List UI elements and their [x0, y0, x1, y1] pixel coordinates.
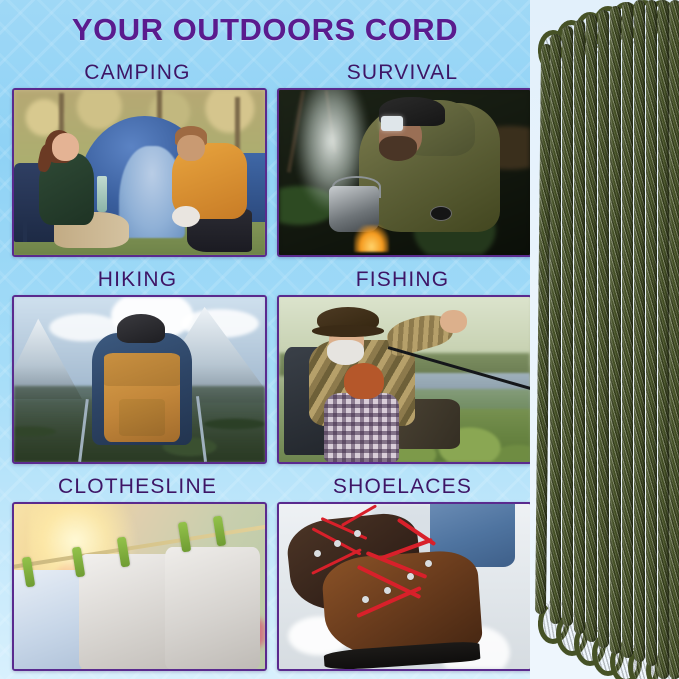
- use-case-grid: CAMPING: [0, 58, 530, 679]
- card-photo-fishing: [277, 295, 530, 464]
- campfire-flame: [354, 225, 389, 251]
- hiking-scene: [14, 297, 265, 462]
- card-label: SHOELACES: [277, 472, 528, 502]
- use-case-card-camping[interactable]: CAMPING: [12, 58, 263, 257]
- boy-red-hair: [344, 363, 384, 399]
- hanging-shirt: [12, 570, 84, 669]
- card-label: HIKING: [12, 265, 263, 295]
- product-panel: [530, 0, 679, 679]
- cord-strand: [658, 0, 669, 679]
- grid-row: CAMPING: [0, 58, 530, 265]
- boot-eyelet: [384, 587, 391, 594]
- use-case-card-clothesline[interactable]: CLOTHESLINE: [12, 472, 263, 671]
- page-title: YOUR OUTDOORS CORD: [0, 12, 530, 48]
- cord-strand: [562, 26, 573, 626]
- backpack-pocket: [119, 399, 164, 435]
- cord-strand: [574, 20, 585, 634]
- clothesline-scene: [14, 504, 265, 669]
- card-photo-clothesline: [12, 502, 267, 671]
- beard: [379, 136, 417, 161]
- cord-strand: [598, 10, 609, 648]
- cord-strand: [669, 0, 679, 679]
- backpack-flap: [104, 353, 179, 386]
- card-label: SURVIVAL: [277, 58, 528, 88]
- card-photo-hiking: [12, 295, 267, 464]
- card-label: FISHING: [277, 265, 528, 295]
- paracord-bundle: [530, 0, 679, 679]
- boy-plaid-shirt: [324, 393, 399, 462]
- product-infographic: YOUR OUTDOORS CORD CAMPING: [0, 0, 679, 679]
- card-photo-survival: [277, 88, 530, 257]
- cord-strand: [646, 0, 657, 666]
- use-case-card-shoelaces[interactable]: SHOELACES: [277, 472, 528, 671]
- use-case-card-survival[interactable]: SURVIVAL: [277, 58, 528, 257]
- card-photo-shoelaces: [277, 502, 530, 671]
- infographic-panel: YOUR OUTDOORS CORD CAMPING: [0, 0, 530, 679]
- hiker-beanie: [117, 314, 165, 344]
- hanging-shirt: [165, 547, 260, 669]
- wristwatch: [430, 206, 452, 221]
- grid-row: HIKING: [0, 265, 530, 472]
- drink-bottle: [97, 176, 107, 212]
- cord-strand: [634, 0, 645, 662]
- card-label: CAMPING: [12, 58, 263, 88]
- white-beard: [327, 340, 365, 365]
- headlamp-icon: [381, 116, 404, 131]
- camping-scene: [14, 90, 265, 255]
- man-face: [177, 135, 205, 161]
- card-label: CLOTHESLINE: [12, 472, 263, 502]
- use-case-card-hiking[interactable]: HIKING: [12, 265, 263, 464]
- cord-strand: [622, 2, 633, 658]
- man-hand: [440, 310, 468, 333]
- cord-strand: [610, 6, 621, 654]
- cord-strand: [586, 14, 597, 642]
- man-hands-holding-item: [172, 206, 200, 227]
- card-photo-camping: [12, 88, 267, 257]
- fishing-scene: [279, 297, 530, 462]
- chair-leg: [23, 221, 27, 242]
- hat-brim: [312, 325, 385, 337]
- use-case-card-fishing[interactable]: FISHING: [277, 265, 528, 464]
- boot-eyelet: [425, 560, 432, 567]
- grid-row: CLOTHESLINE: [0, 472, 530, 679]
- survival-scene: [279, 90, 530, 255]
- cord-strand: [550, 34, 561, 624]
- woman-face: [52, 133, 80, 161]
- shoelaces-scene: [279, 504, 530, 669]
